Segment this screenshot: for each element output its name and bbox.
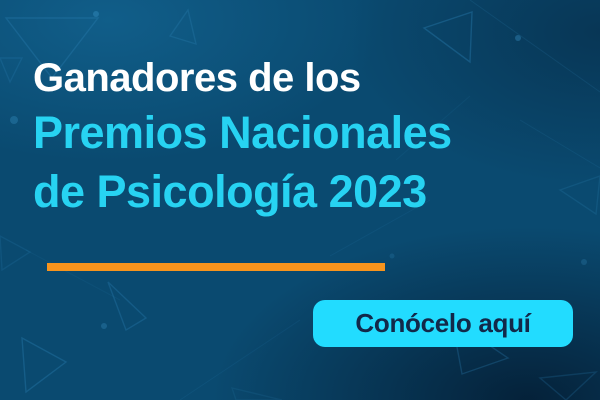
promo-banner: Ganadores de los Premios Nacionales de P…: [0, 0, 600, 400]
headline-line-3: de Psicología 2023: [33, 169, 593, 214]
orange-accent-rule: [47, 263, 385, 271]
headline-line-1: Ganadores de los: [33, 58, 593, 98]
headline-block: Ganadores de los Premios Nacionales de P…: [33, 58, 593, 214]
cta-button[interactable]: Conócelo aquí: [313, 300, 573, 347]
headline-line-2: Premios Nacionales: [33, 110, 593, 155]
